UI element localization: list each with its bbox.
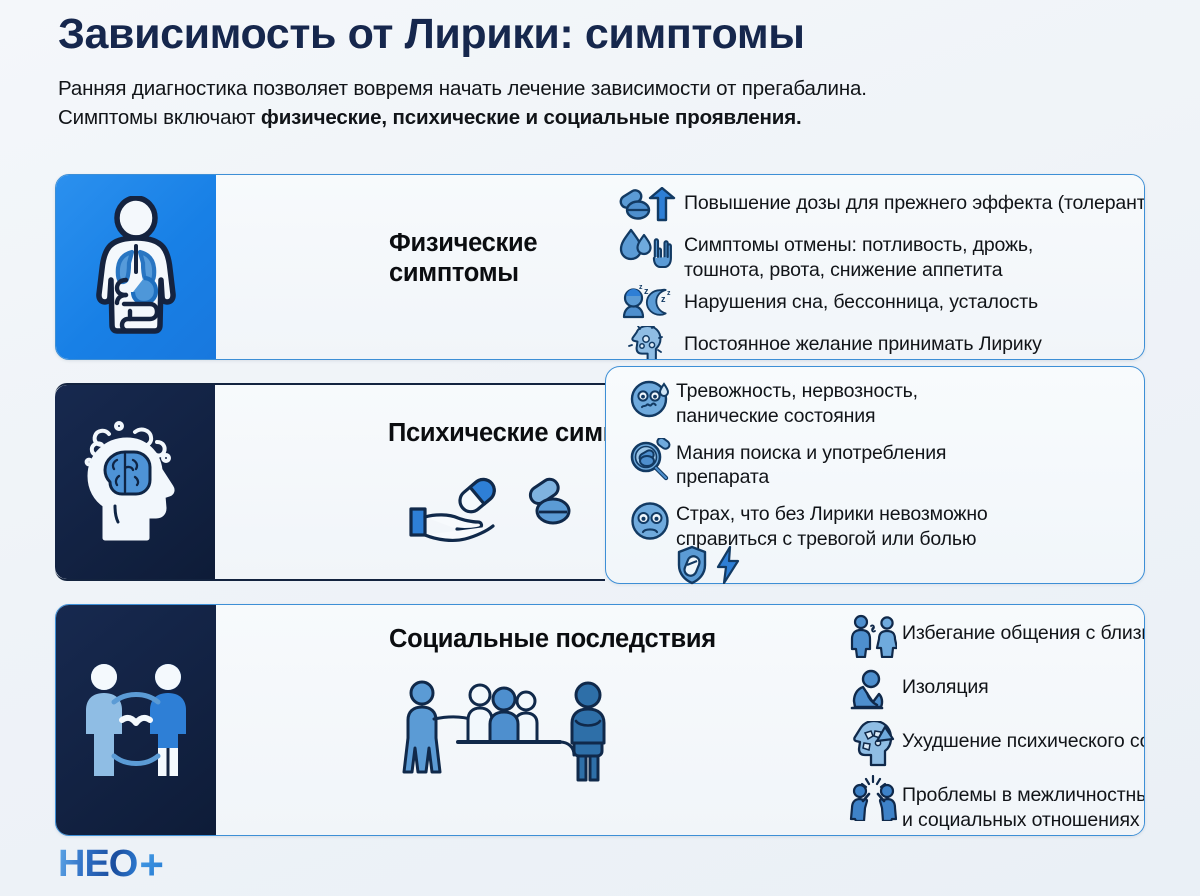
subtitle-line-2-plain: Симптомы включают bbox=[58, 106, 261, 129]
person-sitting-alone-icon bbox=[844, 667, 902, 713]
card-physical-title: Физические симптомы bbox=[389, 229, 589, 288]
card-mental-extra-icons bbox=[676, 545, 740, 585]
list-item-text: Нарушения сна, бессонница, усталость bbox=[684, 284, 1038, 315]
card-mental-list: Тревожность, нервозность, панические сос… bbox=[624, 377, 1129, 562]
card-social-title: Социальные последствия bbox=[389, 625, 829, 655]
list-item-text: Проблемы в межличностных и социальных от… bbox=[902, 775, 1145, 832]
card-mental-title: Психические симптомы bbox=[388, 419, 605, 449]
list-item: z z z z Нарушения сна, бессонница, устал… bbox=[614, 284, 1145, 324]
page-title: Зависимость от Лирики: симптомы bbox=[58, 10, 1168, 58]
card-social-body: Социальные последствия bbox=[216, 605, 1144, 835]
list-item-text: Постоянное желание принимать Лирику bbox=[684, 326, 1042, 357]
list-item: Избегание общения с близкими bbox=[844, 613, 1145, 659]
card-mental-body: Психические симптомы bbox=[215, 385, 605, 579]
list-item-text: Избегание общения с близкими bbox=[902, 613, 1145, 646]
infographic-page: Зависимость от Лирики: симптомы Ранняя д… bbox=[0, 0, 1200, 896]
two-people-avoiding-icon bbox=[844, 613, 902, 659]
page-subtitle: Ранняя диагностика позволяет вовремя нач… bbox=[58, 74, 1168, 132]
list-item-text: Тревожность, нервозность, панические сос… bbox=[676, 377, 918, 429]
card-physical-symptoms: Физические симптомы Повышение bbox=[55, 174, 1145, 360]
fearful-face-icon bbox=[624, 500, 676, 542]
two-people-handshake-icon bbox=[70, 660, 202, 780]
card-physical-body: Физические симптомы Повышение bbox=[216, 175, 1144, 359]
pills-up-arrow-icon bbox=[614, 185, 684, 225]
list-item: Тревожность, нервозность, панические сос… bbox=[624, 377, 1129, 429]
subtitle-line-1: Ранняя диагностика позволяет вовремя нач… bbox=[58, 77, 867, 100]
sweat-drops-trembling-hand-icon bbox=[614, 227, 684, 267]
logo-plus-icon: + bbox=[139, 844, 164, 886]
card-mental-detail-panel: Тревожность, нервозность, панические сос… bbox=[605, 366, 1145, 584]
card-physical-list: Повышение дозы для прежнего эффекта (тол… bbox=[614, 185, 1145, 360]
two-people-arguing-icon bbox=[844, 775, 902, 821]
subtitle-line-2-bold: физические, психические и социальные про… bbox=[261, 106, 802, 129]
card-physical-icon-pane bbox=[56, 175, 216, 359]
sleepy-face-moon-icon: z z z z bbox=[614, 284, 684, 324]
magnifier-pills-icon bbox=[624, 439, 676, 481]
fragmented-head-icon bbox=[844, 721, 902, 767]
list-item-text: Изоляция bbox=[902, 667, 989, 700]
hand-holding-pills-icon bbox=[393, 467, 593, 549]
craving-head-icon bbox=[614, 326, 684, 360]
logo-word: НЕО bbox=[58, 843, 137, 886]
svg-text:z: z bbox=[639, 284, 643, 291]
list-item-text: Мания поиска и употребления препарата bbox=[676, 439, 946, 491]
list-item: Постоянное желание принимать Лирику bbox=[614, 326, 1145, 360]
group-exclusion-icon bbox=[396, 671, 646, 783]
list-item-text: Повышение дозы для прежнего эффекта (тол… bbox=[684, 185, 1145, 216]
card-mental-icon-pane bbox=[55, 385, 215, 579]
list-item: Повышение дозы для прежнего эффекта (тол… bbox=[614, 185, 1145, 225]
list-item: Симптомы отмены: потливость, дрожь, тошн… bbox=[614, 227, 1145, 282]
list-item: Страх, что без Лирики невозможно справит… bbox=[624, 500, 1129, 552]
card-mental-symptoms: Психические симптомы bbox=[55, 383, 605, 581]
card-social-icon-pane bbox=[56, 605, 216, 835]
list-item: Ухудшение психического состояния bbox=[844, 721, 1145, 767]
lightning-bolt-icon bbox=[716, 546, 740, 584]
list-item: Изоляция bbox=[844, 667, 1145, 713]
head-brain-icon bbox=[75, 420, 195, 544]
list-item: Проблемы в межличностных и социальных от… bbox=[844, 775, 1145, 832]
card-social-list: Избегание общения с близкими bbox=[844, 613, 1145, 836]
svg-text:z: z bbox=[667, 290, 671, 297]
svg-text:z: z bbox=[661, 294, 666, 304]
list-item-text: Страх, что без Лирики невозможно справит… bbox=[676, 500, 988, 552]
header: Зависимость от Лирики: симптомы Ранняя д… bbox=[58, 10, 1168, 132]
svg-text:z: z bbox=[644, 286, 649, 296]
shield-pill-icon bbox=[676, 545, 708, 585]
list-item: Мания поиска и употребления препарата bbox=[624, 439, 1129, 491]
list-item-text: Ухудшение психического состояния bbox=[902, 721, 1145, 754]
list-item-text: Симптомы отмены: потливость, дрожь, тошн… bbox=[684, 227, 1033, 282]
card-social-consequences: Социальные последствия bbox=[55, 604, 1145, 836]
human-body-organs-icon bbox=[82, 196, 190, 338]
anxious-face-icon bbox=[624, 377, 676, 419]
brand-logo: НЕО + bbox=[58, 843, 164, 886]
